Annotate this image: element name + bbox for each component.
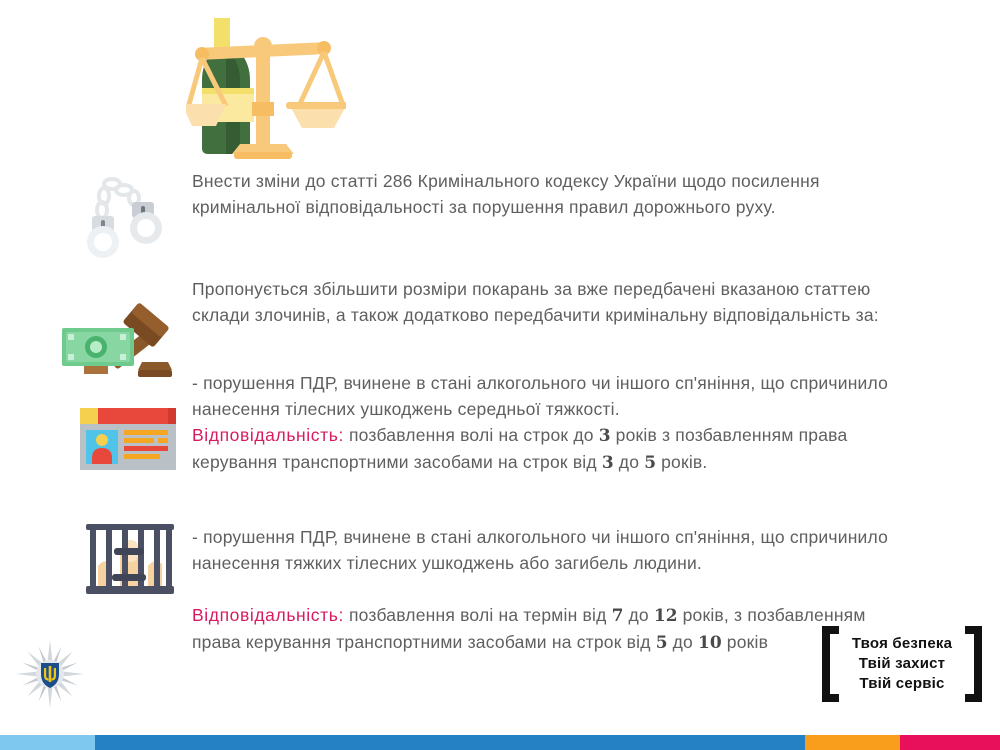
paragraph-case2-description: - порушення ПДР, вчинене в стані алкогол… — [192, 524, 908, 576]
case2-text-1: позбавлення волі на термін від — [344, 605, 612, 625]
right-bracket-icon — [965, 626, 982, 702]
case2-number-2: 12 — [654, 606, 678, 626]
case1-number-3: 5 — [644, 453, 656, 473]
paragraph-case1-description: - порушення ПДР, вчинене в стані алкогол… — [192, 370, 908, 422]
case2-text-5: років — [722, 632, 768, 652]
driver-license-card-icon — [78, 402, 178, 474]
paragraph-proposal: Пропонується збільшити розміри покарань … — [192, 276, 908, 328]
case1-number-1: 3 — [599, 426, 611, 446]
slogan-lines: Твоя безпека Твій захист Твій сервіс — [852, 634, 952, 694]
case2-number-3: 5 — [656, 633, 668, 653]
slogan-box: Твоя безпека Твій захист Твій сервіс — [822, 626, 982, 702]
slogan-line-3: Твій сервіс — [852, 674, 952, 694]
case2-text-2: до — [623, 605, 653, 625]
jail-bars-icon — [82, 512, 178, 598]
responsibility-label-2: Відповідальність: — [192, 605, 344, 625]
ukraine-police-emblem — [14, 638, 86, 710]
color-bar-segment-orange — [805, 735, 900, 750]
paragraph-intro: Внести зміни до статті 286 Кримінального… — [192, 168, 908, 220]
color-bar-segment-light-blue — [0, 735, 95, 750]
case2-number-4: 10 — [698, 633, 722, 653]
slide-canvas: Внести зміни до статті 286 Кримінального… — [0, 0, 1000, 750]
color-bar-segment-crimson — [900, 735, 1000, 750]
slogan-line-2: Твій захист — [852, 654, 952, 674]
case2-number-1: 7 — [612, 606, 624, 626]
handcuffs-icon — [78, 172, 174, 258]
left-bracket-icon — [822, 626, 839, 702]
wine-bottle-and-scales-icon — [186, 12, 346, 160]
responsibility-label-1: Відповідальність: — [192, 425, 344, 445]
slogan-line-1: Твоя безпека — [852, 634, 952, 654]
case1-text-3: до — [614, 452, 644, 472]
slide-text-column: Внести зміни до статті 286 Кримінального… — [192, 168, 908, 656]
paragraph-case2-responsibility: Відповідальність: позбавлення волі на те… — [192, 602, 908, 656]
money-and-gavel-icon — [62, 302, 180, 388]
paragraph-case1-responsibility: Відповідальність: позбавлення волі на ст… — [192, 422, 908, 476]
case1-text-4: років. — [656, 452, 707, 472]
bottom-color-bar — [0, 735, 1000, 750]
case2-text-4: до — [668, 632, 698, 652]
case1-number-2: 3 — [602, 453, 614, 473]
color-bar-segment-blue — [95, 735, 805, 750]
case1-text-1: позбавлення волі на строк до — [344, 425, 599, 445]
